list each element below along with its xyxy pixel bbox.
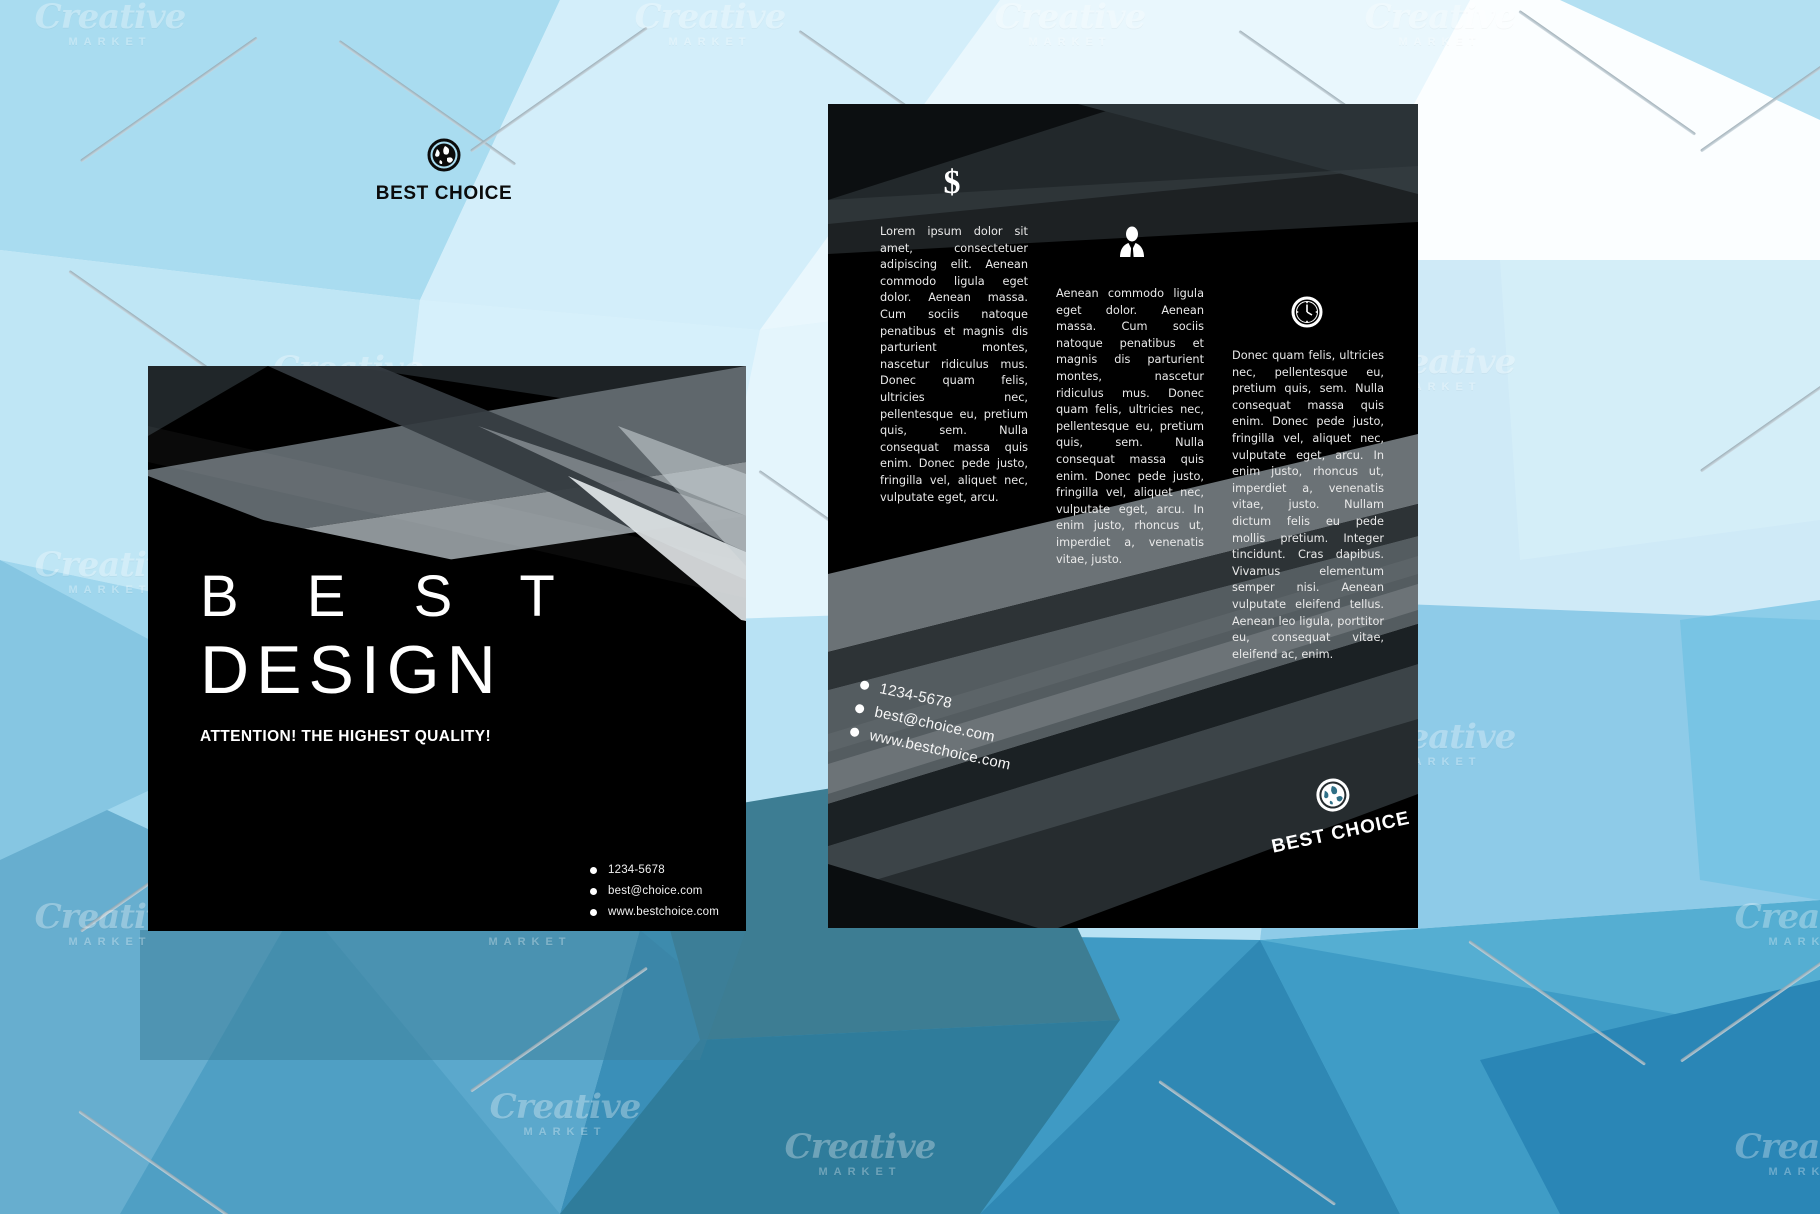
brand-logo-top[interactable]: BEST CHOICE [372, 138, 516, 205]
contact-website: www.bestchoice.com [608, 906, 719, 918]
front-cover-flyer[interactable]: B E S T DESIGN ATTENTION! THE HIGHEST QU… [148, 366, 746, 931]
front-cover-subtitle: ATTENTION! THE HIGHEST QUALITY! [200, 728, 581, 746]
contact-email: best@choice.com [608, 885, 703, 897]
title-line-1: B E S T [200, 566, 581, 628]
globe-icon [1313, 775, 1354, 820]
list-item[interactable]: best@choice.com [590, 885, 719, 897]
businessman-icon [1116, 226, 1148, 258]
column-2-body: Aenean commodo ligula eget dolor. Aenean… [1056, 286, 1204, 568]
bullet-dot-icon [859, 680, 870, 691]
globe-icon [372, 138, 516, 177]
front-cover-contact-list: 1234-5678 best@choice.com www.bestchoice… [590, 864, 719, 927]
bullet-dot-icon [849, 727, 860, 738]
column-1-body: Lorem ipsum dolor sit amet, consectetuer… [880, 224, 1028, 506]
bullet-dot-icon [590, 867, 597, 874]
clock-icon [1291, 296, 1323, 328]
contact-phone: 1234-5678 [608, 864, 665, 876]
bullet-dot-icon [854, 703, 865, 714]
front-cover-title-block: B E S T DESIGN ATTENTION! THE HIGHEST QU… [200, 566, 581, 746]
bullet-dot-icon [590, 888, 597, 895]
list-item[interactable]: 1234-5678 [590, 864, 719, 876]
poster-preview: Creative MARKET Creative MARKET Creative… [0, 0, 1820, 1214]
brand-label: BEST CHOICE [372, 183, 516, 205]
list-item[interactable]: www.bestchoice.com [590, 906, 719, 918]
bullet-dot-icon [590, 909, 597, 916]
column-3-body: Donec quam felis, ultricies nec, pellent… [1232, 348, 1384, 663]
svg-text:$: $ [944, 164, 961, 198]
title-line-2: DESIGN [200, 634, 581, 706]
dollar-icon: $ [938, 164, 966, 198]
